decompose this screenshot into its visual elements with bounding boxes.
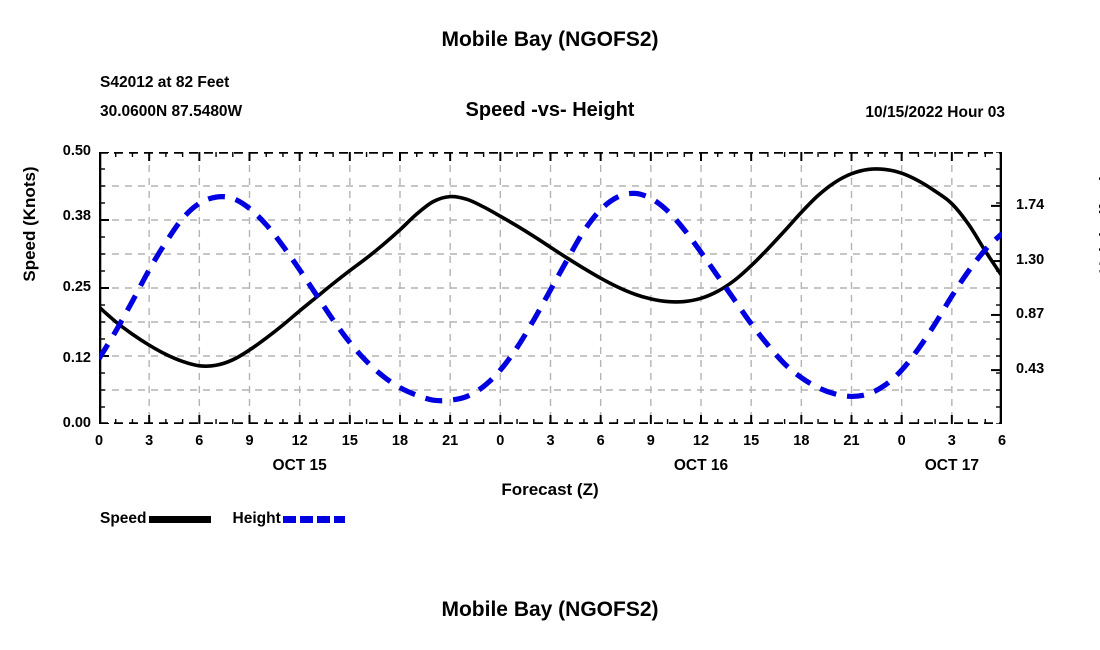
x-axis-tick-label: 3	[531, 433, 571, 449]
chart-canvas	[99, 152, 1002, 424]
station-id-label: S42012 at 82 Feet	[100, 74, 229, 92]
legend-label-height: Height	[233, 510, 281, 528]
x-axis-day-label: OCT 17	[882, 457, 1022, 475]
y-axis-left-tick-label: 0.50	[31, 143, 91, 159]
legend-swatch-height	[283, 516, 345, 523]
x-axis-tick-label: 6	[179, 433, 219, 449]
x-axis-tick-label: 6	[982, 433, 1022, 449]
x-axis-tick-label: 9	[631, 433, 671, 449]
y-axis-left-tick-label: 0.25	[31, 279, 91, 295]
y-axis-right-tick-label: 0.43	[1016, 361, 1076, 377]
x-axis-tick-label: 12	[280, 433, 320, 449]
x-axis-tick-label: 3	[932, 433, 972, 449]
legend-item-height: Height	[233, 510, 345, 528]
legend-item-speed: Speed	[100, 510, 211, 528]
x-axis-tick-label: 0	[882, 433, 922, 449]
y-axis-right-tick-label: 0.87	[1016, 306, 1076, 322]
x-axis-tick-label: 21	[430, 433, 470, 449]
x-axis-tick-label: 18	[781, 433, 821, 449]
x-axis-tick-label: 12	[681, 433, 721, 449]
model-run-timestamp: 10/15/2022 Hour 03	[865, 104, 1005, 122]
x-axis-tick-label: 21	[832, 433, 872, 449]
y-axis-right-title: Height (feet)	[1096, 124, 1100, 324]
chart-page: Mobile Bay (NGOFS2) S42012 at 82 Feet 30…	[0, 0, 1100, 650]
chart-legend: Speed Height	[100, 508, 367, 530]
x-axis-tick-label: 15	[330, 433, 370, 449]
chart-subtitle: Speed -vs- Height	[300, 99, 800, 122]
x-axis-tick-label: 0	[79, 433, 119, 449]
bottom-title: Mobile Bay (NGOFS2)	[0, 598, 1100, 622]
x-axis-tick-label: 6	[581, 433, 621, 449]
legend-swatch-speed	[149, 516, 211, 523]
x-axis-tick-label: 9	[230, 433, 270, 449]
x-axis-tick-label: 0	[480, 433, 520, 449]
y-axis-right-tick-label: 1.30	[1016, 252, 1076, 268]
y-axis-right-tick-label: 1.74	[1016, 197, 1076, 213]
y-axis-left-tick-label: 0.12	[31, 350, 91, 366]
x-axis-tick-label: 18	[380, 433, 420, 449]
legend-label-speed: Speed	[100, 510, 147, 528]
page-title: Mobile Bay (NGOFS2)	[0, 28, 1100, 52]
x-axis-tick-label: 3	[129, 433, 169, 449]
plot-area	[99, 152, 1002, 424]
x-axis-title: Forecast (Z)	[0, 480, 1100, 500]
x-axis-tick-label: 15	[731, 433, 771, 449]
station-coords-label: 30.0600N 87.5480W	[100, 103, 242, 121]
x-axis-day-label: OCT 15	[230, 457, 370, 475]
y-axis-left-tick-label: 0.00	[31, 415, 91, 431]
x-axis-day-label: OCT 16	[631, 457, 771, 475]
y-axis-left-tick-label: 0.38	[31, 208, 91, 224]
